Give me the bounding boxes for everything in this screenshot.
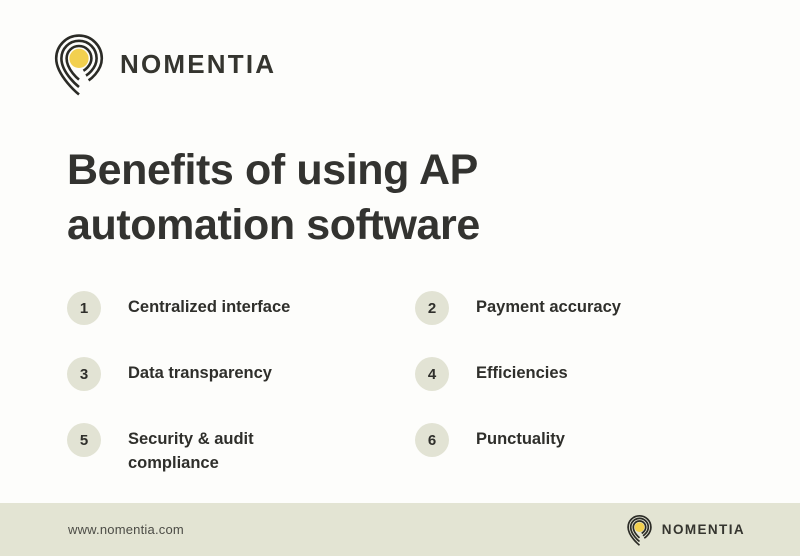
- location-pin-icon: [52, 32, 106, 96]
- benefit-label: Data transparency: [128, 356, 272, 386]
- benefit-label: Payment accuracy: [476, 290, 621, 320]
- benefit-label: Punctuality: [476, 422, 565, 452]
- infographic-page: NOMENTIA Benefits of using AP automation…: [0, 0, 800, 556]
- benefit-number-badge: 2: [415, 291, 449, 325]
- benefit-number-badge: 3: [67, 357, 101, 391]
- benefit-label: Centralized interface: [128, 290, 290, 320]
- footer-wordmark: NOMENTIA: [662, 522, 745, 537]
- benefits-list: 1 Centralized interface 2 Payment accura…: [67, 290, 747, 488]
- benefit-item-1: 1 Centralized interface: [67, 290, 415, 356]
- footer-website-url[interactable]: www.nomentia.com: [68, 522, 184, 537]
- location-pin-icon: [626, 514, 653, 546]
- benefit-number-badge: 4: [415, 357, 449, 391]
- benefit-item-2: 2 Payment accuracy: [415, 290, 747, 356]
- brand-logo-header: NOMENTIA: [52, 32, 276, 96]
- benefit-label: Security & audit compliance: [128, 422, 343, 476]
- page-title: Benefits of using AP automation software: [67, 143, 627, 253]
- benefit-label: Efficiencies: [476, 356, 568, 386]
- benefit-item-6: 6 Punctuality: [415, 422, 747, 488]
- benefit-number-badge: 5: [67, 423, 101, 457]
- benefit-item-4: 4 Efficiencies: [415, 356, 747, 422]
- benefit-item-3: 3 Data transparency: [67, 356, 415, 422]
- brand-logo-footer: NOMENTIA: [626, 514, 745, 546]
- benefit-number-badge: 6: [415, 423, 449, 457]
- footer-bar: www.nomentia.com NOMENTIA: [0, 503, 800, 556]
- benefit-number-badge: 1: [67, 291, 101, 325]
- benefit-item-5: 5 Security & audit compliance: [67, 422, 415, 488]
- brand-wordmark: NOMENTIA: [120, 51, 276, 77]
